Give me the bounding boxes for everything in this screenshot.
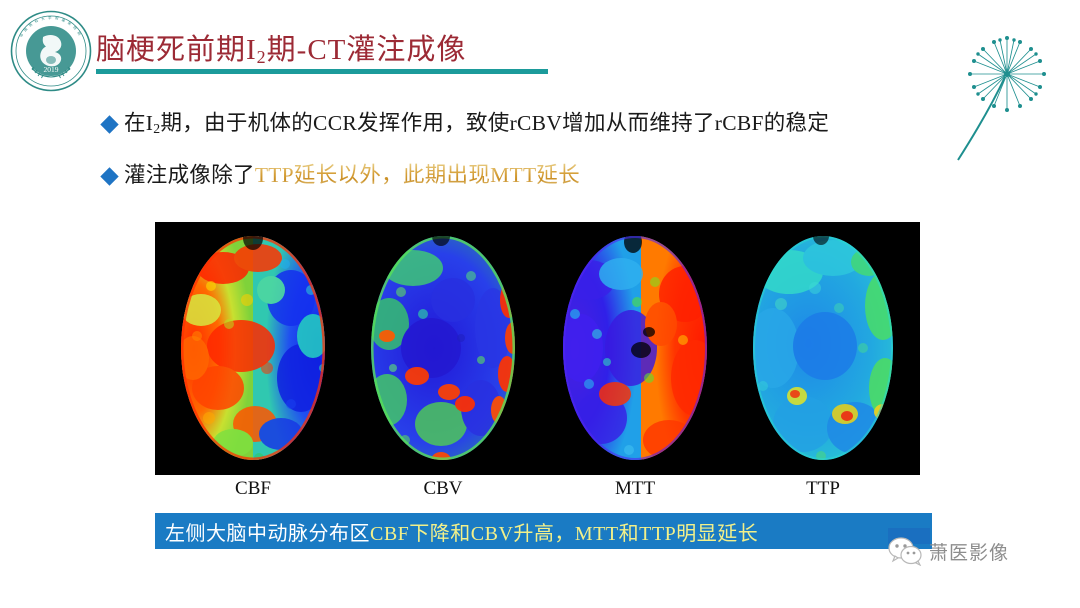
bullet-2-text: 灌注成像除了TTP延长以外，此期出现MTT延长 (124, 162, 580, 189)
logo-year: 2019 (44, 65, 59, 74)
page-title-subscript: 2 (257, 47, 267, 67)
bullet-1-prefix: 在I (124, 111, 153, 135)
svg-text:属: 属 (61, 17, 67, 23)
watermark-text: 萧医影像 (929, 538, 1009, 565)
dandelion-stem (958, 77, 1005, 160)
page-title-main: 脑梗死前期I (96, 34, 257, 66)
svg-text:院: 院 (76, 30, 82, 36)
perfusion-map-mtt (545, 228, 725, 469)
perfusion-map-cbv (353, 228, 533, 469)
hospital-logo: 2019 中 国 医 科 大 学 附 属 医 院 院 (10, 10, 92, 92)
watermark: 萧医影像 (888, 536, 1009, 566)
bullet-item-1: 在I2期，由于机体的CCR发挥作用，致使rCBV增加从而维持了rCBF的稳定 (103, 110, 829, 137)
bullet-1-subscript: 2 (153, 121, 160, 136)
map-label-ttp: TTP (733, 478, 913, 500)
diamond-bullet-icon (100, 115, 118, 133)
map-label-cbv: CBV (353, 478, 533, 500)
bullet-item-2: 灌注成像除了TTP延长以外，此期出现MTT延长 (103, 162, 580, 189)
title-underline (96, 69, 548, 74)
bullet-2-highlight: TTP延长以外，此期出现MTT延长 (255, 163, 580, 187)
bullet-1-body: 期，由于机体的CCR发挥作用，致使rCBV增加从而维持了rCBF的稳定 (160, 111, 829, 135)
figure-caption-bar: 左侧大脑中动脉分布区CBF下降和CBV升高，MTT和TTP明显延长 (155, 513, 932, 549)
svg-text:医: 医 (28, 22, 34, 28)
svg-text:中: 中 (18, 32, 24, 38)
page-title: 脑梗死前期I2期-CT灌注成像 (96, 34, 566, 74)
svg-text:附: 附 (55, 15, 60, 21)
caption-prefix-text: 左侧大脑中动脉分布区 (165, 517, 370, 546)
caption-highlight-text: CBF下降和CBV升高，MTT和TTP明显延长 (370, 517, 758, 546)
bullet-2-plain: 灌注成像除了 (124, 163, 255, 187)
svg-text:医: 医 (67, 21, 73, 27)
perfusion-map-ttp (733, 228, 913, 469)
map-label-mtt: MTT (545, 478, 725, 500)
map-label-cbf: CBF (163, 478, 343, 500)
perfusion-image-panel (155, 222, 920, 475)
page-title-text: 脑梗死前期I2期-CT灌注成像 (96, 34, 566, 67)
dandelion-icon (950, 28, 1060, 173)
perfusion-map-cbf (163, 228, 343, 469)
diamond-bullet-icon (100, 167, 118, 185)
bullet-1-text: 在I2期，由于机体的CCR发挥作用，致使rCBV增加从而维持了rCBF的稳定 (124, 110, 829, 137)
perfusion-map-labels: CBF CBV MTT TTP (155, 478, 920, 504)
page-title-tail: 期-CT灌注成像 (267, 34, 467, 66)
wechat-icon (888, 536, 922, 566)
